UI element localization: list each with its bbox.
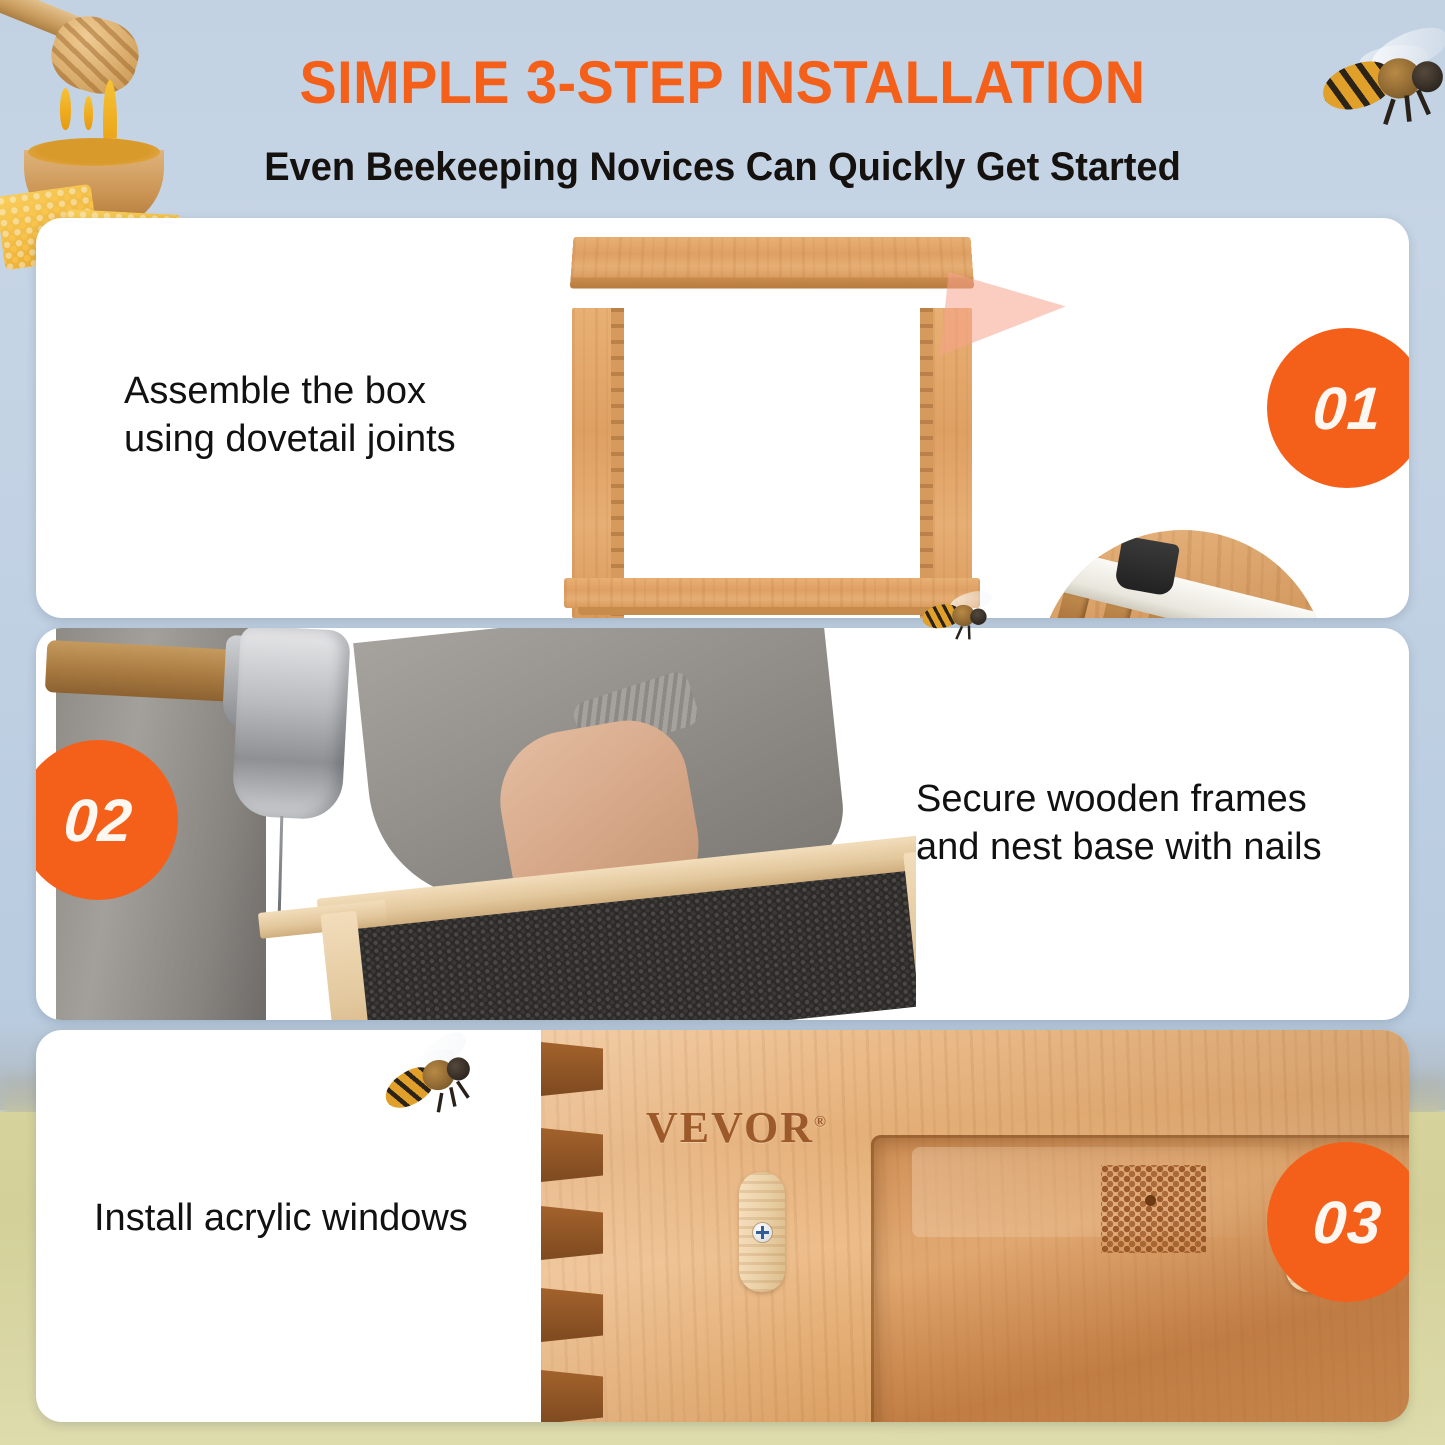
step-panel-1: Assemble the box using dovetail joints 0… — [36, 218, 1409, 618]
step-3-caption: Install acrylic windows — [94, 1195, 468, 1243]
mallet-icon — [1114, 535, 1180, 596]
dovetail-detail-circle — [1038, 530, 1328, 618]
dovetail-pin — [541, 1128, 603, 1182]
bee-leg — [968, 625, 971, 639]
step-badge-2-number: 02 — [61, 786, 135, 855]
dovetail-pin — [541, 1206, 603, 1260]
step-panel-3: VEVOR® Install acrylic windows 03 — [36, 1030, 1409, 1422]
step-1-caption: Assemble the box using dovetail joints — [124, 368, 456, 464]
bee-head — [1412, 61, 1443, 92]
honey-drip — [84, 96, 93, 130]
page-title: SIMPLE 3-STEP INSTALLATION — [51, 48, 1395, 117]
dovetail-pin — [541, 1370, 603, 1422]
hammer-head — [231, 628, 351, 821]
step-2-caption: Secure wooden frames and nest base with … — [916, 776, 1322, 872]
hive-bottom-rail — [564, 578, 980, 608]
step-badge-1: 01 — [1267, 328, 1409, 488]
screw-icon — [753, 1223, 772, 1242]
infographic-canvas: SIMPLE 3-STEP INSTALLATION Even Beekeepi… — [0, 0, 1445, 1445]
dovetail-pin — [541, 1288, 603, 1342]
honey-drip — [60, 88, 71, 130]
callout-cone — [940, 272, 1068, 368]
hive-left-rail — [572, 308, 612, 618]
vent-center-hole — [1145, 1195, 1156, 1206]
brand-logo: VEVOR® — [646, 1102, 828, 1153]
vent-grid — [1101, 1165, 1206, 1253]
step-badge-1-number: 01 — [1310, 374, 1384, 443]
page-subtitle: Even Beekeeping Novices Can Quickly Get … — [36, 145, 1409, 190]
step-badge-3-number: 03 — [1310, 1188, 1384, 1257]
step-panel-2: Secure wooden frames and nest base with … — [36, 628, 1409, 1020]
brand-logo-text: VEVOR — [646, 1103, 814, 1152]
brand-registered-mark: ® — [814, 1113, 828, 1130]
window-latch-left[interactable] — [739, 1172, 785, 1292]
dovetail-pin — [541, 1042, 603, 1096]
hive-top-board — [570, 237, 973, 280]
nail — [278, 816, 284, 916]
